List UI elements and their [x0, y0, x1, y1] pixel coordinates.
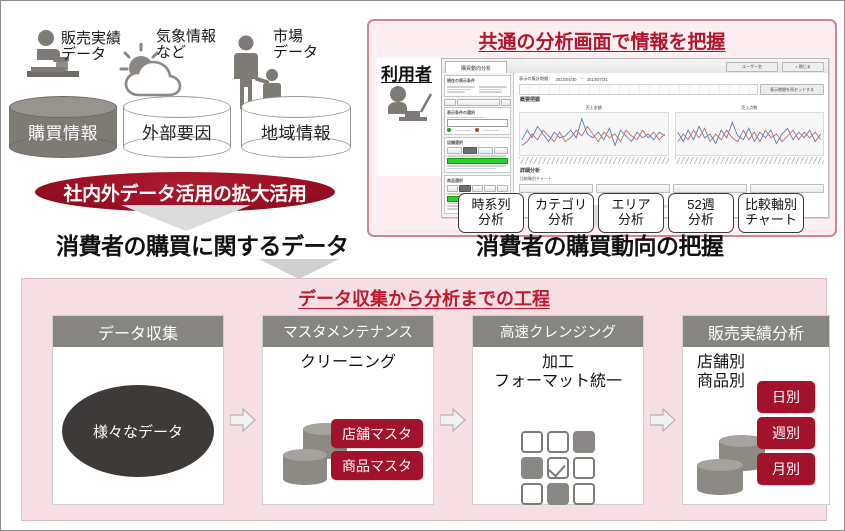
stage-header-2: 高速クレンジング [473, 316, 643, 347]
dashboard-period-label: 表示の集計期間： [519, 76, 553, 82]
sidebar-card-condition-select: 表示条件の選択 [444, 107, 511, 136]
stage-data-collection: データ収集 様々なデータ [52, 315, 224, 505]
stage-sub-1: クリーニング [263, 347, 433, 373]
data-sources-group: 販売実績 データ 購買情報 気象情報 など 外部要因 [1, 1, 367, 166]
dashboard-period-from: 2014/04/30 [556, 77, 577, 82]
stage-high-speed-cleansing: 高速クレンジング 加工 フォーマット統一 [472, 315, 644, 505]
source-caption-1: 気象情報 など [156, 29, 242, 61]
analysis-button-line2-3: 分析 [688, 213, 714, 228]
tag-product-master: 商品マスタ [331, 451, 423, 480]
sidebar-select[interactable] [447, 119, 508, 127]
analysis-button-timeseries[interactable]: 時系列 分析 [458, 193, 524, 233]
sidebar-apply-button[interactable] [457, 99, 500, 106]
analysis-button-line1-2: エリア [611, 198, 650, 213]
source-cylinder-label-1: 外部要因 [123, 119, 231, 144]
analysis-button-area[interactable]: エリア 分析 [598, 193, 664, 233]
stage-header-0: データ収集 [53, 316, 223, 347]
analysis-button-comparison-chart[interactable]: 比較軸別 チャート [738, 193, 804, 233]
analysis-button-line1-3: 52週 [687, 198, 714, 213]
sidebar-card-current-conditions: 現在の表示条件 [444, 75, 511, 97]
heading-left: 消費者の購買に関するデータ [56, 227, 349, 261]
dashboard-chart-title-0: 売上金額 [519, 105, 669, 111]
dashboard-chart-title-1: 売上点数 [675, 105, 825, 111]
arrow-stage-1-to-2 [440, 407, 466, 433]
dashboard-detail-tab-1[interactable] [596, 184, 670, 193]
sidebar-apply-row[interactable] [444, 99, 511, 106]
analysis-button-line1-1: カテゴリ [535, 198, 587, 213]
tag-daily: 日別 [757, 381, 815, 413]
down-chevron-center-icon [259, 259, 339, 279]
dashboard-detail-tab-2[interactable] [673, 184, 747, 193]
analysis-button-category[interactable]: カテゴリ 分析 [528, 193, 594, 233]
sidebar-header-0: 現在の表示条件 [447, 78, 508, 84]
dashboard-chart-1: 売上点数 [675, 105, 825, 164]
source-cylinder-label-0: 購買情報 [9, 119, 117, 144]
analysis-button-line2-1: 分析 [548, 213, 574, 228]
stage-ellipse-label-0: 様々なデータ [93, 421, 183, 442]
process-panel: データ収集から分析までの工程 データ収集 様々なデータ マスタメンテナンス クリ… [21, 278, 827, 521]
dashboard-user-chip[interactable]: ユーザー名 [726, 62, 778, 72]
tag-store-master: 店舗マスタ [331, 419, 423, 448]
diagram-canvas: 販売実績 データ 購買情報 気象情報 など 外部要因 [0, 0, 845, 531]
common-analysis-panel-title: 共通の分析画面で情報を把握 [369, 27, 835, 54]
sidebar-header-1: 表示条件の選択 [447, 110, 508, 116]
tag-weekly: 週別 [757, 417, 815, 449]
expansion-banner-label: 社内外データ活用の拡大活用 [63, 179, 306, 206]
stage-sales-analysis: 販売実績分析 店舗別 商品別 日別 週別 [682, 315, 830, 505]
dashboard-close-chip[interactable]: × 閉じる [782, 62, 824, 72]
dashboard-detail-tabs[interactable] [519, 184, 824, 193]
dashboard-detail-header: 詳細分析 [520, 167, 824, 174]
source-cylinder-external: 外部要因 [123, 96, 231, 158]
analysis-buttons-group[interactable]: 時系列 分析 カテゴリ 分析 エリア 分析 52週 分析 比較軸別 チャート [458, 193, 804, 233]
dashboard-chart-0: 売上金額 [519, 105, 669, 164]
stage-master-maintenance: マスタメンテナンス クリーニング 店舗マスタ 商品マスタ [262, 315, 434, 505]
analysis-button-line2-0: 分析 [478, 213, 504, 228]
analysis-button-line1-0: 時系列 [471, 198, 510, 213]
user-box: 利用者 [377, 58, 441, 176]
arrow-stage-2-to-3 [650, 407, 676, 433]
dashboard-period-slider[interactable] [519, 84, 758, 95]
source-cylinder-region: 地域情報 [241, 96, 351, 158]
dashboard-overview-header: 概要把握 [520, 96, 824, 103]
user-label: 利用者 [381, 60, 432, 85]
sidebar-header-3: 商品選択 [447, 178, 508, 184]
dashboard-period-to: 2014/07/31 [587, 77, 608, 82]
dashboard-charts-row: 売上金額 売上点数 [519, 105, 824, 164]
person-laptop-icon [385, 86, 435, 130]
dashboard-detail-sub: 比較軸別チャート [520, 176, 824, 182]
dashboard-detail-tab-0[interactable] [519, 184, 593, 193]
dashboard-reload-button[interactable]: 表示期間を再セットする [760, 84, 824, 95]
checkbox-grid-icon [521, 431, 595, 505]
stage-header-1: マスタメンテナンス [263, 316, 433, 347]
arrow-stage-0-to-1 [230, 407, 256, 433]
sidebar-card-store-select: 店舗選択 [444, 137, 511, 173]
stage-sub-2: 加工 フォーマット統一 [473, 347, 643, 392]
sidebar-header-2: 店舗選択 [447, 140, 508, 146]
source-cylinder-purchase: 購買情報 [9, 96, 117, 158]
dashboard-topright-chips: ユーザー名 × 閉じる [726, 62, 824, 72]
analysis-button-line2-4: チャート [745, 213, 797, 228]
analysis-button-line1-4: 比較軸別 [745, 198, 797, 213]
source-caption-2: 市場 データ [273, 29, 353, 61]
tag-monthly: 月別 [757, 453, 815, 485]
process-panel-title: データ収集から分析までの工程 [22, 285, 826, 311]
source-cylinder-label-2: 地域情報 [241, 119, 351, 144]
analysis-button-line2-2: 分析 [618, 213, 644, 228]
dashboard-detail-tab-3[interactable] [750, 184, 824, 193]
stage-ellipse-various-data: 様々なデータ [62, 385, 214, 477]
stage-header-3: 販売実績分析 [683, 316, 829, 347]
analysis-button-52weeks[interactable]: 52週 分析 [668, 193, 734, 233]
